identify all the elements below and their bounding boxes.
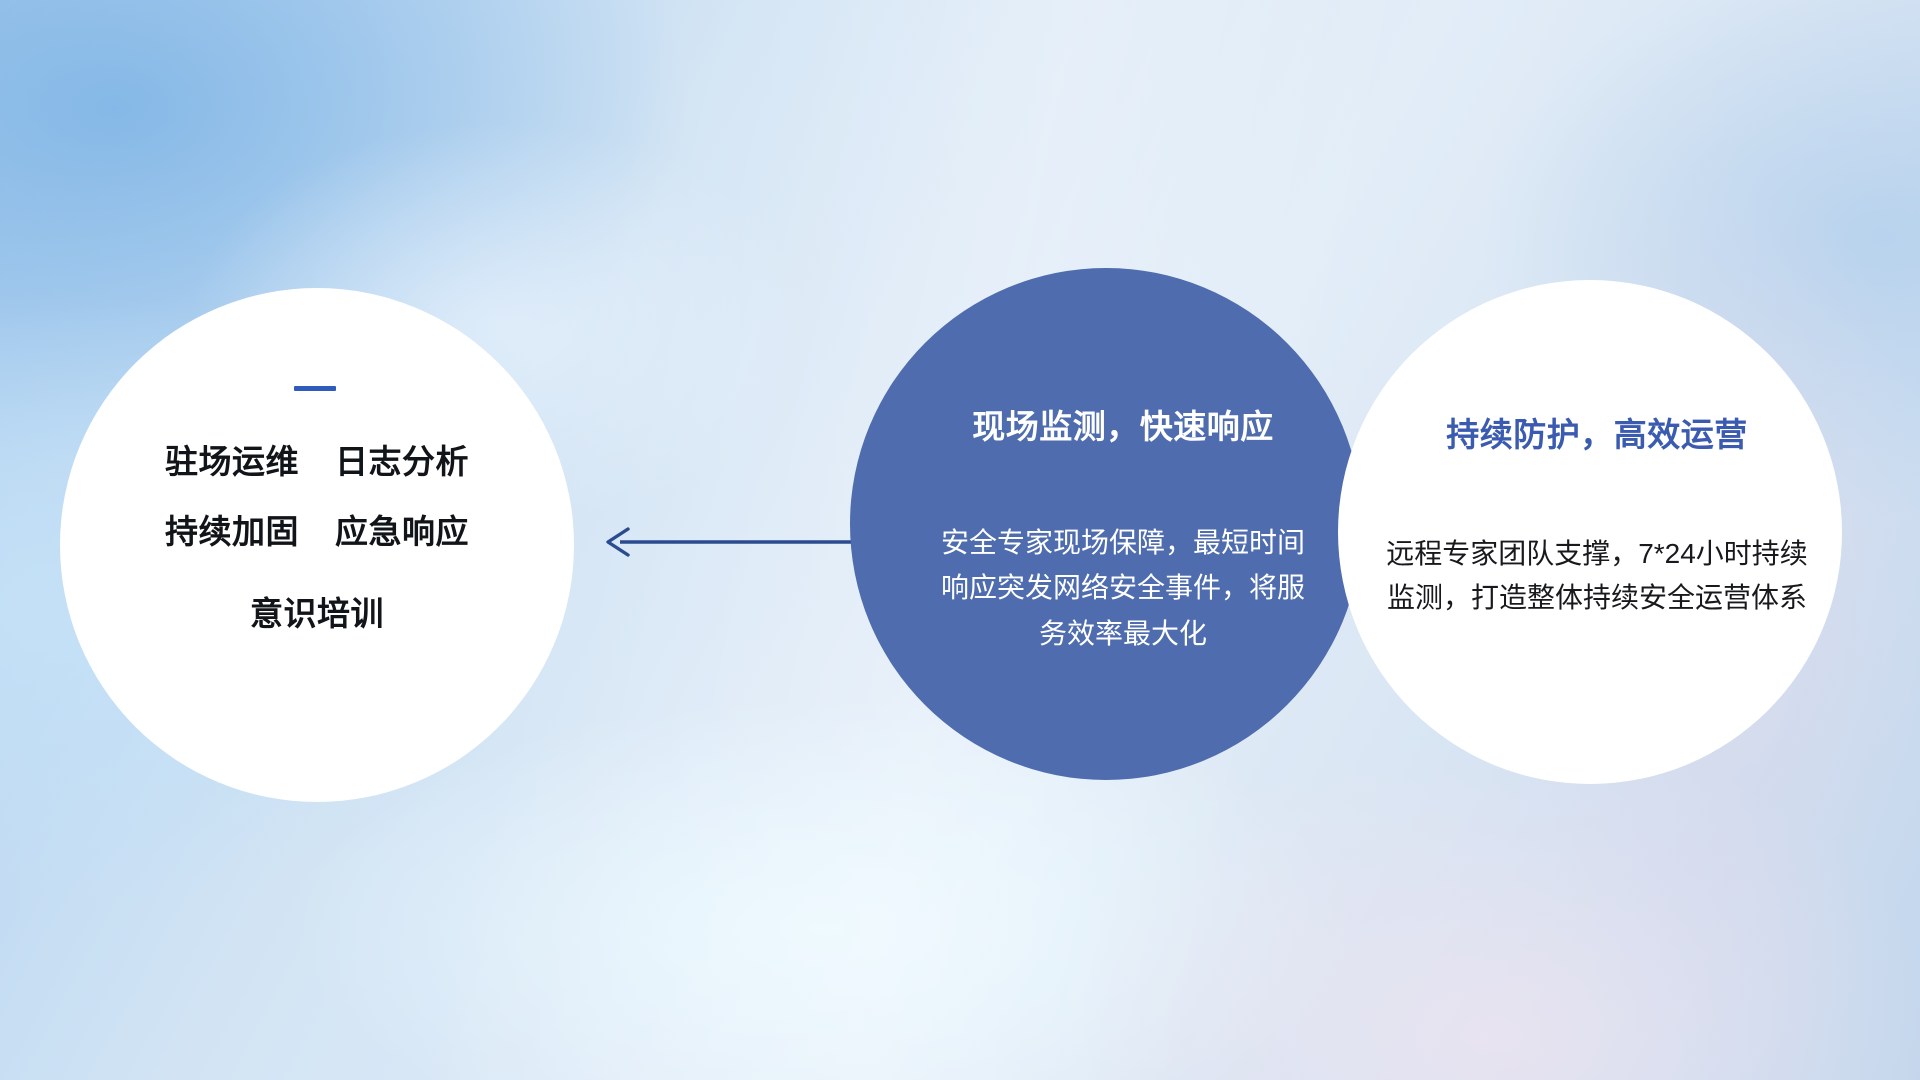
continuous-protection-title: 持续防护，高效运营 — [1446, 408, 1748, 456]
capability-list: 驻场运维 日志分析 持续加固 应急响应 意识培训 — [165, 435, 469, 635]
leftward-flow-arrow — [598, 518, 888, 566]
continuous-protection-circle[interactable]: 持续防护，高效运营 远程专家团队支撑，7*24小时持续监测，打造整体持续安全运营… — [1338, 280, 1842, 784]
capability-row: 持续加固 应急响应 — [165, 505, 469, 553]
slide-canvas: 驻场运维 日志分析 持续加固 应急响应 意识培训 现场监测，快速响应 安全专家现… — [0, 0, 1920, 1080]
capability-row: 驻场运维 日志分析 — [165, 435, 469, 483]
capability-item: 驻场运维 — [165, 435, 299, 483]
capability-item: 持续加固 — [165, 505, 299, 553]
divider-dash-icon — [294, 386, 336, 391]
continuous-protection-body: 远程专家团队支撑，7*24小时持续监测，打造整体持续安全运营体系 — [1379, 532, 1815, 620]
onsite-monitoring-title: 现场监测，快速响应 — [972, 400, 1274, 448]
capability-row: 意识培训 — [250, 587, 384, 635]
continuous-protection-content: 持续防护，高效运营 远程专家团队支撑，7*24小时持续监测，打造整体持续安全运营… — [1338, 280, 1842, 620]
capability-item: 日志分析 — [335, 435, 469, 483]
capability-item: 应急响应 — [335, 505, 469, 553]
capabilities-content: 驻场运维 日志分析 持续加固 应急响应 意识培训 — [60, 288, 574, 635]
onsite-monitoring-body: 安全专家现场保障，最短时间响应突发网络安全事件，将服务效率最大化 — [937, 520, 1309, 656]
capabilities-circle[interactable]: 驻场运维 日志分析 持续加固 应急响应 意识培训 — [60, 288, 574, 802]
onsite-monitoring-content: 现场监测，快速响应 安全专家现场保障，最短时间响应突发网络安全事件，将服务效率最… — [850, 268, 1362, 656]
onsite-monitoring-circle[interactable]: 现场监测，快速响应 安全专家现场保障，最短时间响应突发网络安全事件，将服务效率最… — [850, 268, 1362, 780]
capability-item: 意识培训 — [250, 587, 384, 635]
